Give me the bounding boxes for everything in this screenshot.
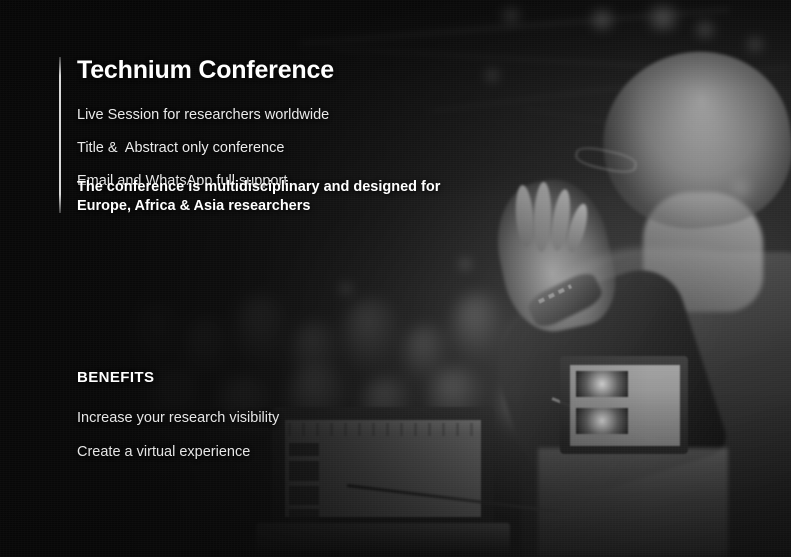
list-item: Increase your research visibility	[77, 409, 407, 427]
benefits-block: BENEFITS Increase your research visibili…	[77, 369, 407, 461]
page-title: Technium Conference	[77, 56, 547, 84]
list-item: Title & Abstract only conference	[77, 139, 547, 157]
list-item: Create a virtual experience	[77, 443, 407, 461]
hero-block: Technium Conference Live Session for res…	[77, 56, 547, 215]
benefits-list: Increase your research visibility Create…	[77, 409, 407, 461]
slide-content: Technium Conference Live Session for res…	[0, 0, 791, 557]
list-item: Live Session for researchers worldwide	[77, 106, 547, 124]
accent-rule	[59, 57, 61, 213]
conference-slide: Technium Conference Live Session for res…	[0, 0, 791, 557]
highlight-statement: The conference is multidisciplinary and …	[77, 178, 477, 215]
benefits-heading: BENEFITS	[77, 369, 407, 386]
